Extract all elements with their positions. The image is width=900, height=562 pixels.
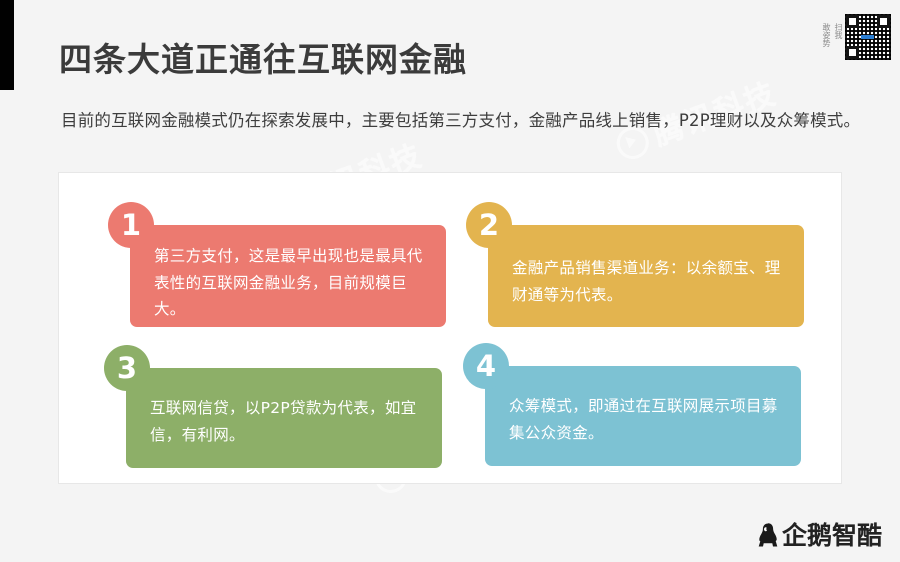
footer-logo: 企鹅智酷: [757, 522, 882, 548]
card-bubble: 众筹模式，即通过在互联网展示项目募集公众资金。: [485, 366, 801, 466]
qr-caption-line2: 敢姿势: [821, 23, 830, 57]
card-text: 互联网信贷，以P2P贷款为代表，如宜信，有利网。: [150, 395, 424, 448]
accent-bar: [0, 0, 14, 90]
card-bubble: 第三方支付，这是最早出现也是最具代表性的互联网金融业务，目前规模巨大。: [130, 225, 446, 327]
qr-code-icon[interactable]: [845, 14, 891, 60]
card-text: 众筹模式，即通过在互联网展示项目募集公众资金。: [509, 393, 783, 446]
card-number-badge: 1: [108, 202, 154, 248]
logo-text: 企鹅智酷: [782, 523, 882, 548]
qr-block[interactable]: 敢姿势 扫我: [821, 14, 891, 60]
card-text: 金融产品销售渠道业务：以余额宝、理财通等为代表。: [512, 255, 786, 308]
qr-caption-line1: 扫我: [833, 23, 842, 57]
card-number-badge: 4: [463, 343, 509, 389]
penguin-icon: [757, 522, 779, 548]
card-number-badge: 3: [104, 345, 150, 391]
infographic-page: 腾讯科技 腾讯科技 腾讯科技 腾讯科技 腾讯科技 四条大道正通往互联网金融 目前…: [0, 0, 900, 562]
page-title: 四条大道正通往互联网金融: [59, 40, 467, 80]
card-bubble: 金融产品销售渠道业务：以余额宝、理财通等为代表。: [488, 225, 804, 327]
card-text: 第三方支付，这是最早出现也是最具代表性的互联网金融业务，目前规模巨大。: [154, 243, 428, 323]
qr-logo-mark: [861, 35, 874, 39]
qr-finder-bottom-left: [846, 46, 859, 59]
card-number-badge: 2: [466, 202, 512, 248]
page-subtitle: 目前的互联网金融模式仍在探索发展中，主要包括第三方支付，金融产品线上销售，P2P…: [61, 105, 861, 137]
card-bubble: 互联网信贷，以P2P贷款为代表，如宜信，有利网。: [126, 368, 442, 468]
